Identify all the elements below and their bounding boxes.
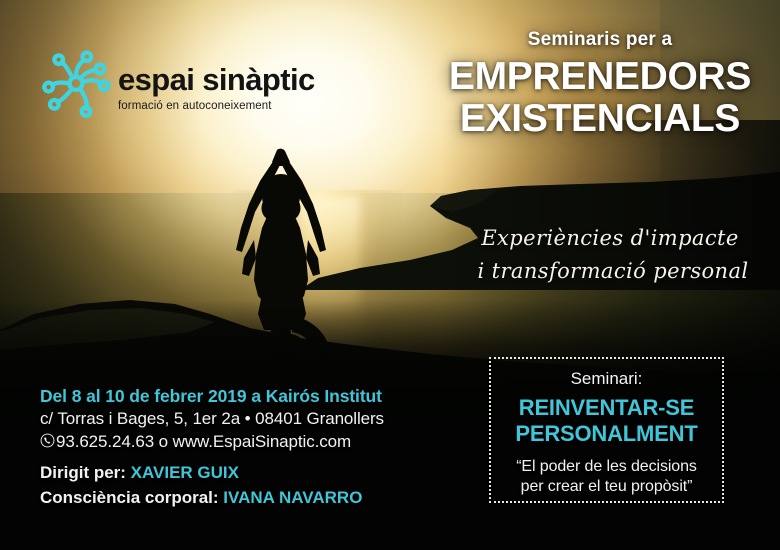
headline-line-1: EMPRENEDORS [430, 56, 770, 98]
director-name: XAVIER GUIX [131, 463, 239, 482]
seminar-label: Seminari: [491, 369, 722, 389]
contact-block: Del 8 al 10 de febrer 2019 a Kairós Inst… [40, 385, 384, 454]
seminar-box: Seminari: REINVENTAR-SE PERSONALMENT “El… [489, 357, 724, 503]
venue-address: c/ Torras i Bages, 5, 1er 2a • 08401 Gra… [40, 408, 384, 431]
phone-number[interactable]: 93.625.24.63 [56, 432, 154, 451]
body-awareness-line: Consciència corporal: IVANA NAVARRO [40, 486, 362, 511]
poster: espai sinàptic formació en autoconeixeme… [0, 0, 780, 550]
seminar-quote: “El poder de les decisions per crear el … [491, 457, 722, 498]
seminar-quote-line-1: “El poder de les decisions [491, 457, 722, 477]
logo-name: espai sinàptic [118, 64, 315, 95]
seminar-quote-line-2: per crear el teu propòsit” [491, 477, 722, 497]
body-awareness-label: Consciència corporal: [40, 488, 223, 507]
logo-tagline: formació en autoconeixement [118, 101, 315, 113]
logo-wordmark: espai sinàptic formació en autoconeixeme… [118, 64, 315, 113]
phone-website-separator: o [154, 432, 173, 451]
headline-title: EMPRENEDORS EXISTENCIALS [430, 56, 770, 140]
seminar-title-line-1: REINVENTAR-SE [491, 395, 722, 421]
headline-kicker: Seminaris per a [430, 30, 770, 51]
circled-phone-icon [40, 433, 55, 448]
headline-line-2: EXISTENCIALS [430, 98, 770, 140]
phone-and-website: 93.625.24.63 o www.EspaiSinaptic.com [40, 431, 384, 454]
script-line-1: Experiències d'impacte [455, 222, 765, 255]
credits-block: Dirigit per: XAVIER GUIX Consciència cor… [40, 461, 362, 510]
seminar-title: REINVENTAR-SE PERSONALMENT [491, 395, 722, 446]
event-date-venue: Del 8 al 10 de febrer 2019 a Kairós Inst… [40, 385, 384, 408]
director-label: Dirigit per: [40, 463, 131, 482]
script-tagline: Experiències d'impacte i transformació p… [455, 222, 765, 287]
website-link[interactable]: www.EspaiSinaptic.com [173, 432, 351, 451]
body-awareness-name: IVANA NAVARRO [223, 488, 362, 507]
script-line-2: i transformació personal [455, 255, 765, 288]
director-line: Dirigit per: XAVIER GUIX [40, 461, 362, 486]
headline-block: Seminaris per a EMPRENEDORS EXISTENCIALS [430, 30, 770, 140]
seminar-title-line-2: PERSONALMENT [491, 421, 722, 447]
neuron-synapse-icon [40, 46, 112, 118]
brand-logo[interactable]: espai sinàptic formació en autoconeixeme… [40, 46, 315, 118]
